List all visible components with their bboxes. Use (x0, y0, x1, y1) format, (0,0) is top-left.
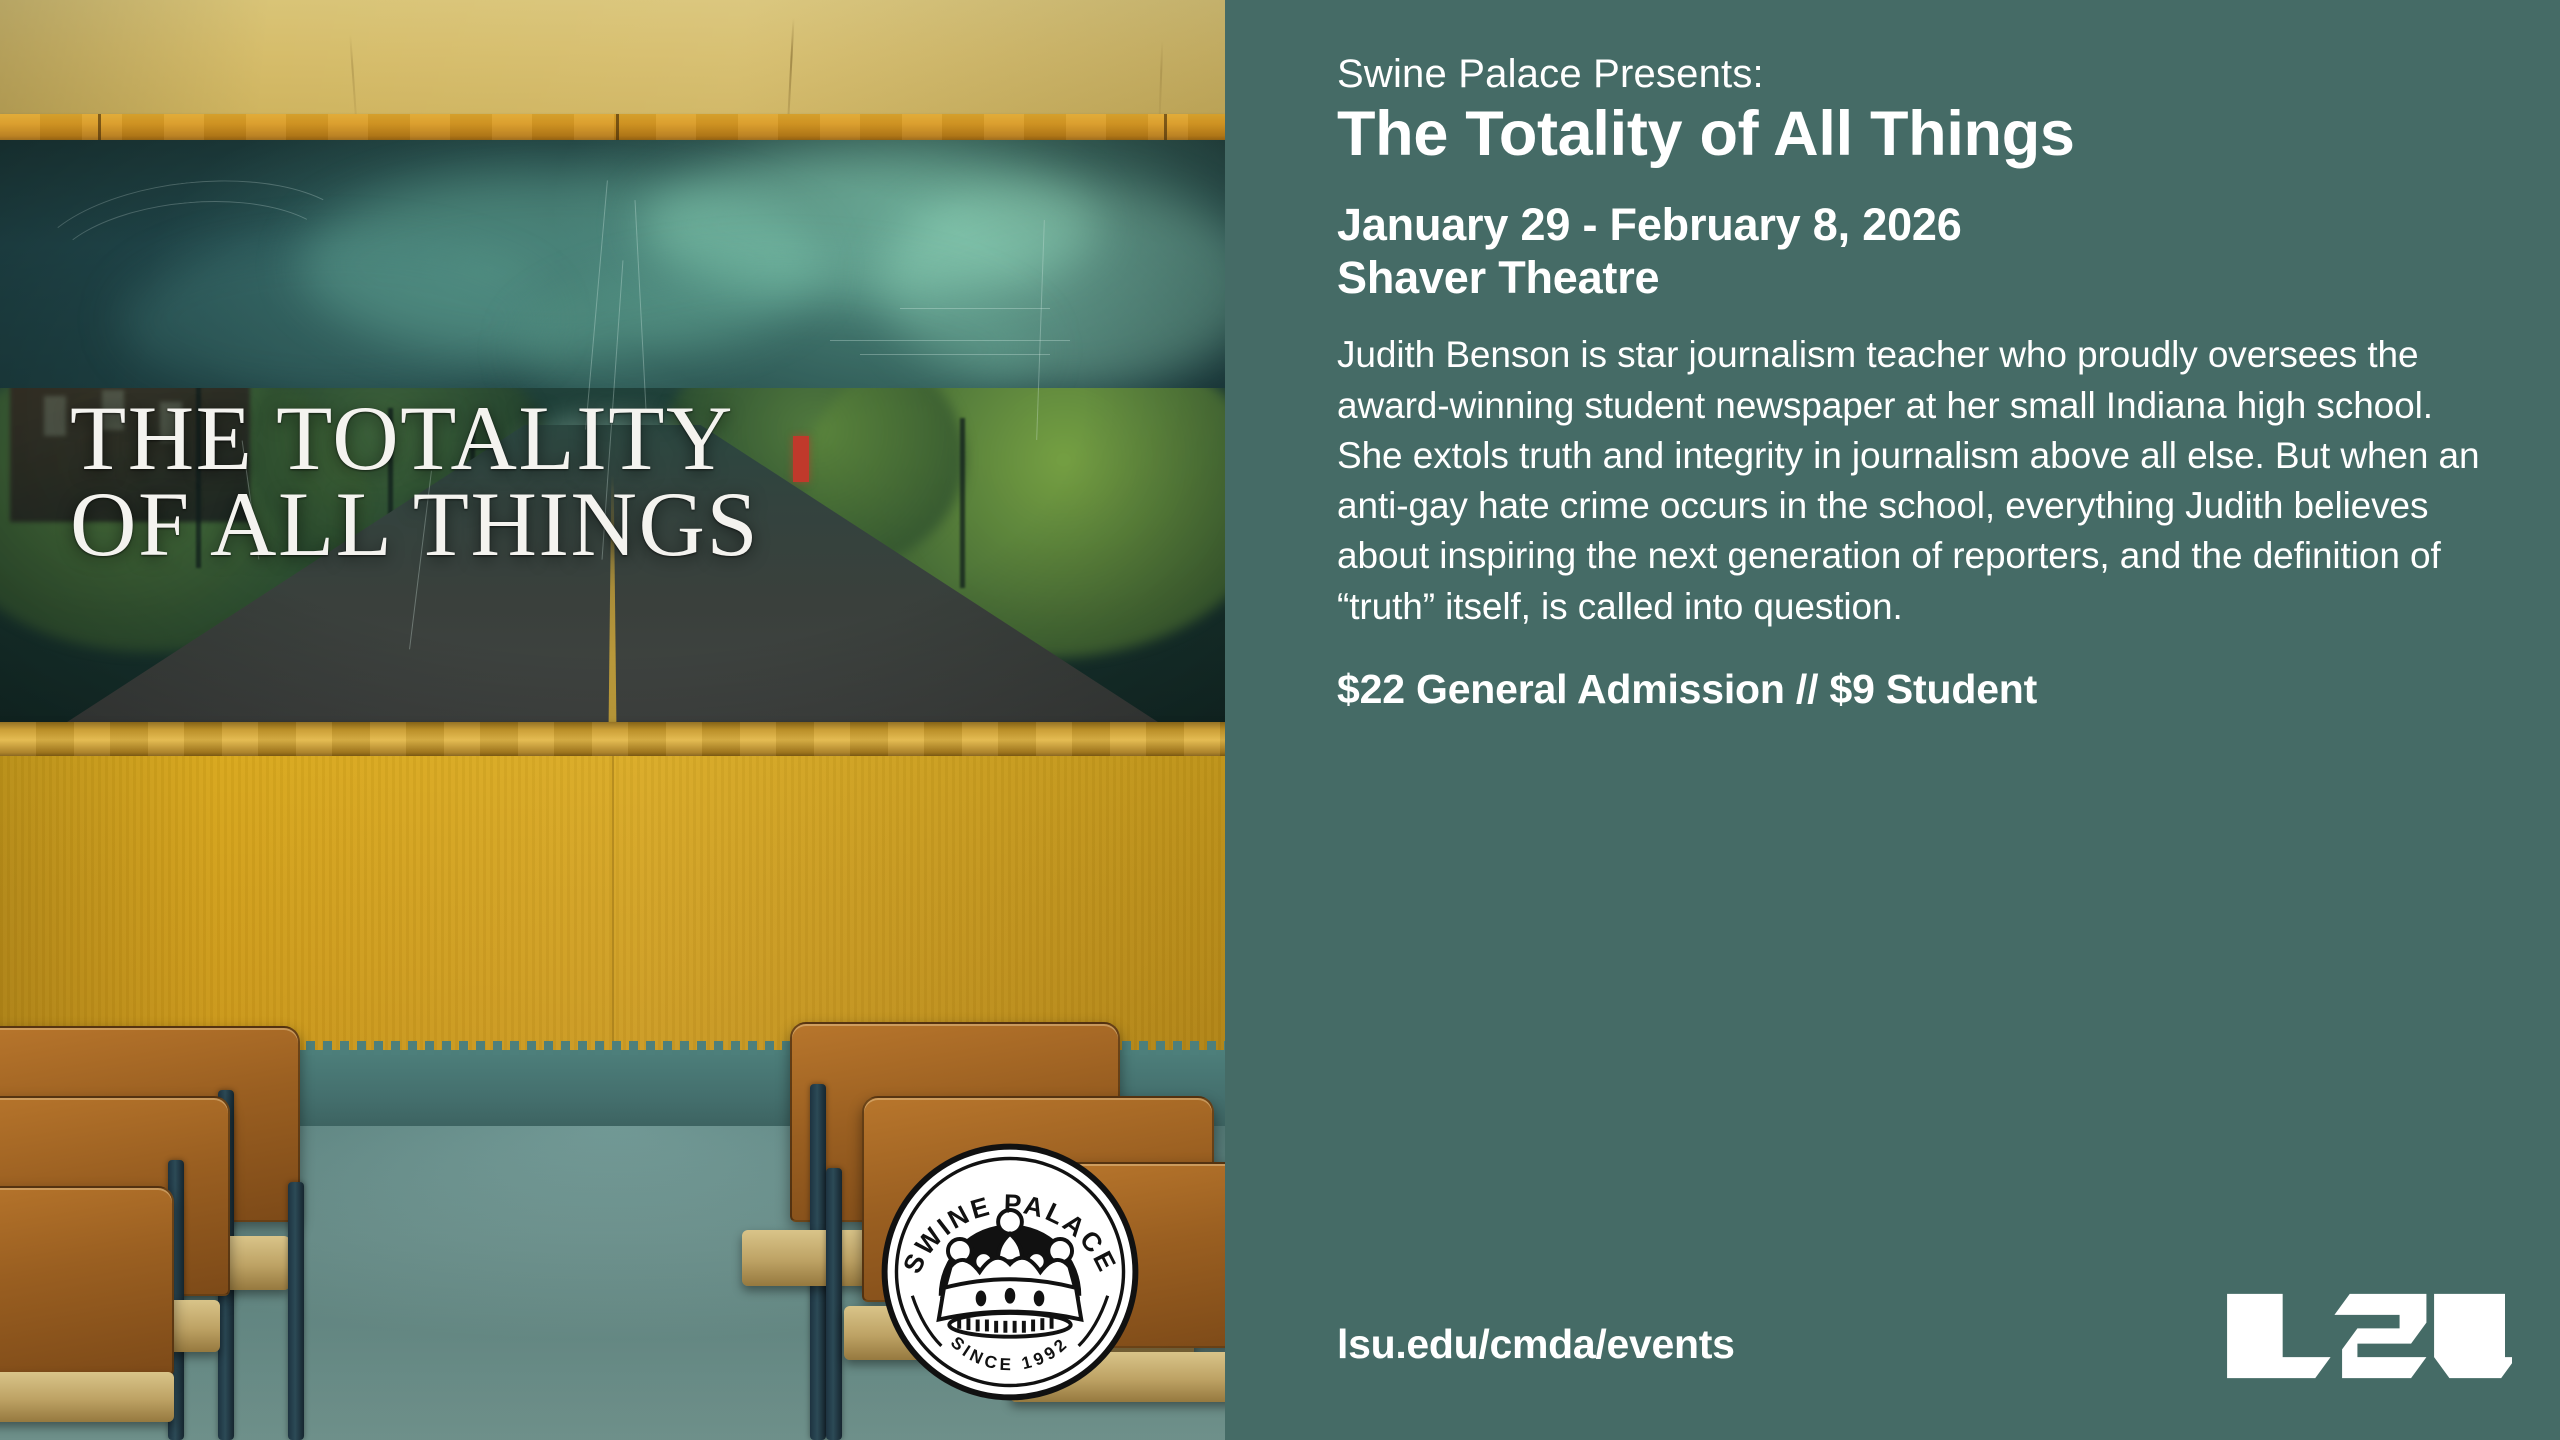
poster-title: THE TOTALITY OF ALL THINGS (70, 395, 759, 568)
chalkboard: THE TOTALITY OF ALL THINGS (0, 140, 1225, 725)
info-panel: Swine Palace Presents: The Totality of A… (1225, 0, 2560, 1440)
venue-name: Shaver Theatre (1337, 251, 2514, 304)
upper-wall (0, 0, 1225, 118)
chalk-rail-top (0, 114, 1225, 142)
rail-seam (1164, 114, 1167, 142)
lsu-logo (2222, 1290, 2512, 1382)
wall-panel-seam (612, 756, 614, 1056)
rail-seam (616, 114, 619, 142)
event-promo-poster: THE TOTALITY OF ALL THINGS (0, 0, 2560, 1440)
poster-title-line-2: OF ALL THINGS (70, 481, 759, 567)
events-url-link[interactable]: lsu.edu/cmda/events (1337, 1321, 1735, 1368)
rail-seam (98, 114, 101, 142)
classroom-photo: THE TOTALITY OF ALL THINGS (0, 0, 1225, 1440)
run-dates: January 29 - February 8, 2026 (1337, 198, 2514, 251)
ticket-pricing: $22 General Admission // $9 Student (1337, 666, 2514, 713)
swine-palace-seal-logo: SWINE PALACE SINCE 1992 (878, 1140, 1142, 1404)
poster-title-line-1: THE TOTALITY (70, 395, 759, 481)
show-title: The Totality of All Things (1337, 100, 2514, 168)
chalk-rail-bottom (0, 722, 1225, 758)
presenter-line: Swine Palace Presents: (1337, 52, 2514, 96)
synopsis-text: Judith Benson is star journalism teacher… (1337, 330, 2497, 632)
